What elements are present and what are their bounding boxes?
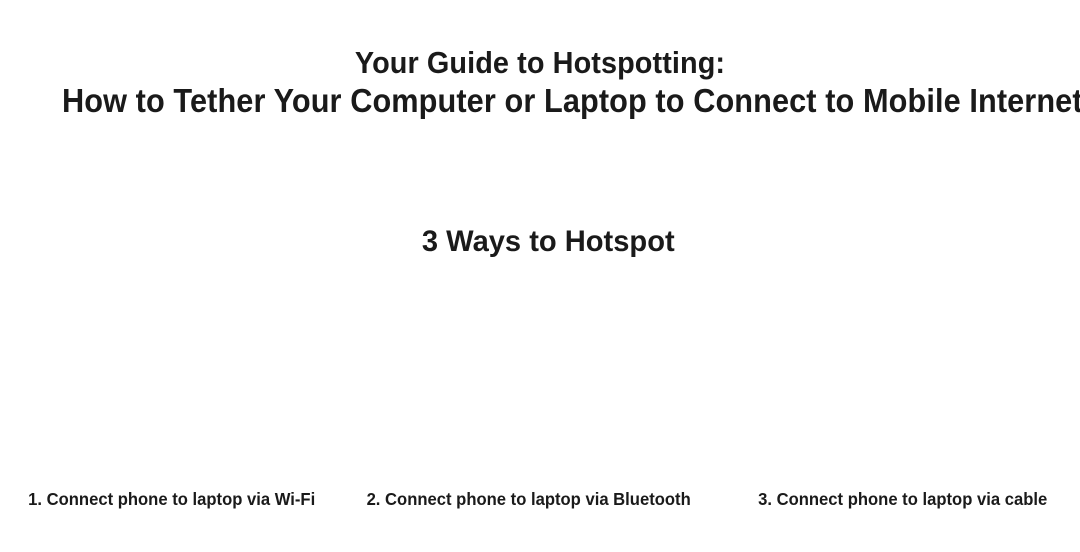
method-caption-cable: 3. Connect phone to laptop via cable [734,488,1072,510]
method-illustration-bluetooth [400,286,680,478]
article-header: Your Guide to Hotspotting: How to Tether… [0,44,1080,120]
method-illustration-wifi [40,286,320,478]
methods-gallery [0,286,1080,478]
method-caption-wifi: 1. Connect phone to laptop via Wi-Fi [3,488,341,510]
page-title-line-2: How to Tether Your Computer or Laptop to… [62,82,1018,120]
method-figure-2 [400,286,680,478]
methods-captions: 1. Connect phone to laptop via Wi-Fi 2. … [0,488,1080,514]
section-heading-text: 3 Ways to Hotspot [422,224,675,260]
method-illustration-cable [760,286,1040,478]
article-page: Your Guide to Hotspotting: How to Tether… [0,0,1080,552]
section-heading: 3 Ways to Hotspot [0,224,1080,260]
method-caption-bluetooth: 2. Connect phone to laptop via Bluetooth [360,488,698,510]
method-figure-1 [40,286,320,478]
method-figure-3 [760,286,1040,478]
page-title: Your Guide to Hotspotting: How to Tether… [62,44,1018,120]
page-title-line-1: Your Guide to Hotspotting: [62,44,1018,82]
